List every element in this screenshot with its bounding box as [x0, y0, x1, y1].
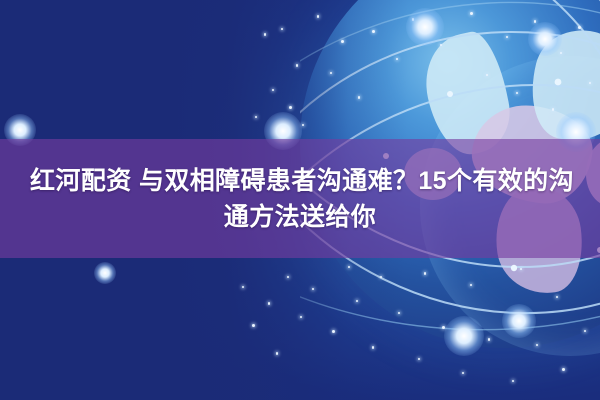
page-title: 红河配资 与双相障碍患者沟通难？15个有效的沟 通方法送给你 — [0, 139, 600, 258]
title-line-1: 红河配资 与双相障碍患者沟通难？15个有效的沟 — [26, 164, 574, 198]
cover-image: 红河配资 与双相障碍患者沟通难？15个有效的沟 通方法送给你 — [0, 0, 600, 400]
title-line-2: 通方法送给你 — [224, 200, 376, 234]
